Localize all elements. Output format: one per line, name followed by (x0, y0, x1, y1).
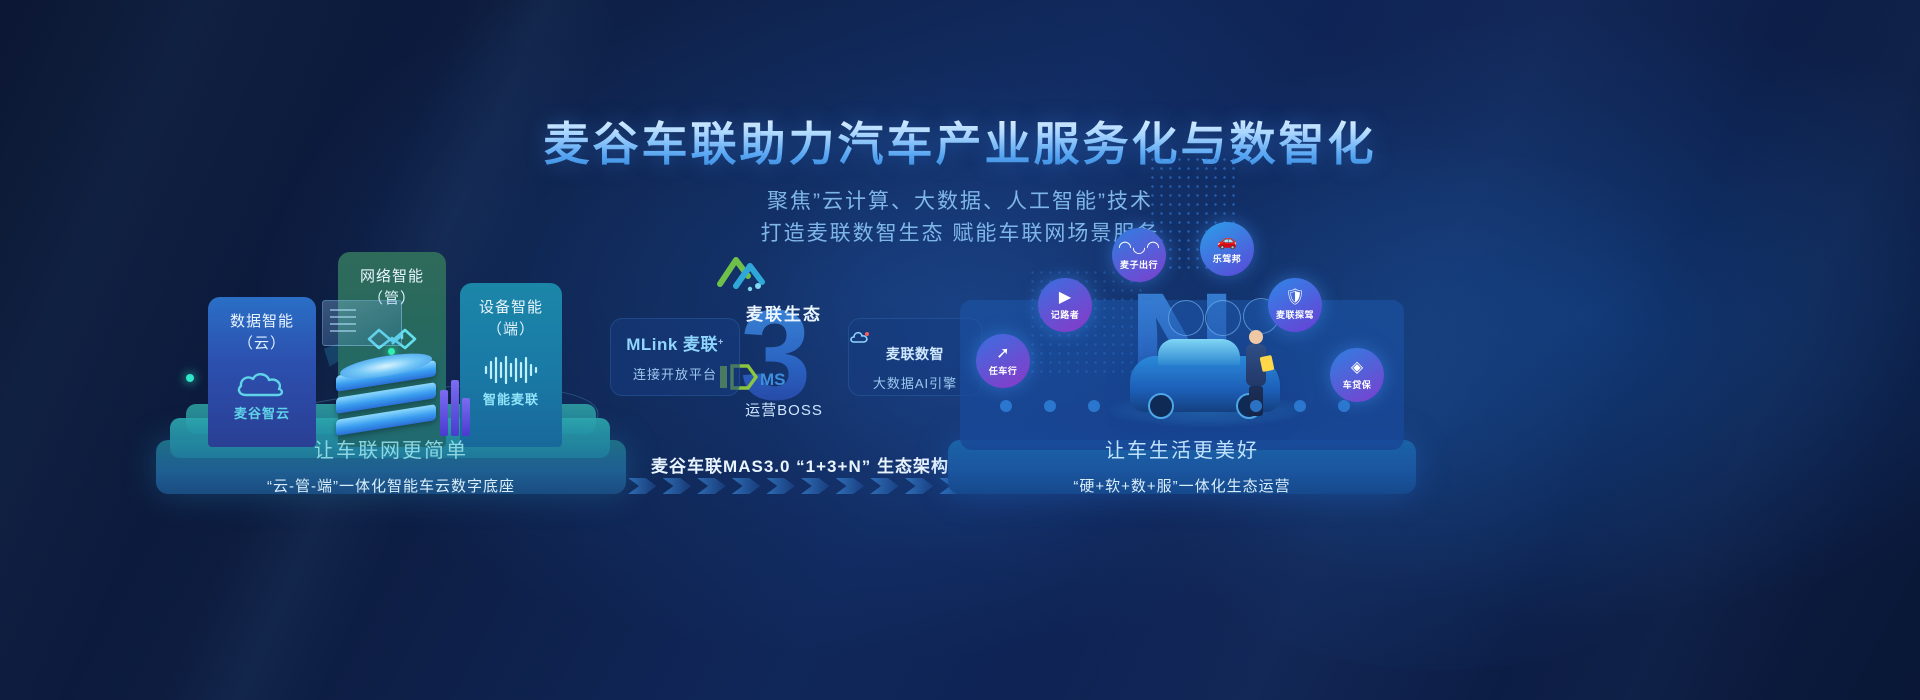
card-brand: MLink 麦联+ (611, 330, 739, 355)
waveform-icon (460, 353, 562, 387)
pillar-title: 网络智能 (338, 266, 446, 287)
pillar-title: 数据智能 (208, 311, 316, 332)
left-panel-caption: “云-管-端”一体化智能车云数字底座 (156, 475, 626, 496)
bar-chart-decor (440, 378, 474, 436)
badge-renchexing[interactable]: ➚ 任车行 (976, 334, 1030, 388)
badge-jiluzhe[interactable]: ▶ 记路者 (1038, 278, 1092, 332)
banner-stage: 麦谷车联助力汽车产业服务化与数智化 聚焦”云计算、大数据、人工智能”技术 打造麦… (0, 0, 1920, 700)
chevron-arrows (628, 478, 968, 496)
light-band (1387, 0, 1920, 700)
screen-icon (322, 300, 402, 346)
pillar-subtitle: （云） (208, 332, 316, 353)
dots-row (1000, 400, 1380, 414)
badge-lejiabang[interactable]: 🚗 乐驾邦 (1200, 222, 1254, 276)
dashcam-icon: ▶ (1059, 290, 1071, 306)
right-panel-slogan: 让车生活更美好 (948, 434, 1416, 463)
badge-maizi-chuxing[interactable]: ◠◡◠ 麦子出行 (1112, 228, 1166, 282)
pillar-title: 设备智能 (460, 297, 562, 318)
smile-arc-icon: ◠◡◠ (1118, 240, 1160, 256)
badge-mailian-tanjia[interactable]: 🛡 麦联探驾 (1268, 278, 1322, 332)
pillar-brand: 麦谷智云 (208, 403, 316, 422)
left-panel-slogan: 让车联网更简单 (156, 434, 626, 463)
subtitle-line-2: 打造麦联数智生态 赋能车联网场景服务 (0, 217, 1920, 247)
car-front-icon: 🚗 (1217, 234, 1237, 250)
badge-label: 乐驾邦 (1213, 252, 1242, 265)
pillar-brand: 智能麦联 (460, 389, 562, 408)
svg-text:MS: MS (760, 370, 786, 389)
badge-label: 任车行 (989, 364, 1018, 377)
ring-icon (1205, 300, 1241, 336)
badge-label: 麦联探驾 (1276, 308, 1314, 321)
server-illustration (336, 352, 454, 447)
pillar-data-intelligence[interactable]: 数据智能 （云） 麦谷智云 (208, 297, 316, 447)
eco-logo-block[interactable]: 麦联生态 (714, 252, 854, 325)
shield-icon: 🛡 (1285, 290, 1305, 306)
page-title: 麦谷车联助力汽车产业服务化与数智化 (0, 108, 1920, 174)
eco-mark-icon (714, 252, 770, 294)
badge-label: 车贷保 (1343, 378, 1372, 391)
right-panel-caption: “硬+软+数+服”一体化生态运营 (948, 475, 1416, 496)
idms-caption: 运营BOSS (718, 399, 850, 420)
center-card-mlink[interactable]: MLink 麦联+ 连接开放平台 (610, 318, 740, 396)
compass-icon: ➚ (996, 346, 1009, 362)
center-caption: 麦谷车联MAS3.0 “1+3+N” 生态架构 (600, 452, 1000, 477)
pillar-subtitle: （端） (460, 318, 562, 339)
badge-label: 麦子出行 (1120, 258, 1158, 271)
pillar-device-intelligence[interactable]: 设备智能 （端） 智能麦联 (460, 283, 562, 447)
subtitle-line-1: 聚焦”云计算、大数据、人工智能”技术 (0, 185, 1920, 215)
card-caption: 连接开放平台 (611, 364, 739, 383)
cloud-ai-icon (849, 330, 871, 344)
diamond-icon: ◈ (1351, 360, 1363, 376)
cloud-icon (208, 367, 316, 401)
badge-chedaibao[interactable]: ◈ 车贷保 (1330, 348, 1384, 402)
ring-icon (1168, 300, 1204, 336)
orbit-dot (186, 374, 194, 382)
badge-label: 记路者 (1051, 308, 1080, 321)
car-roof (1158, 339, 1240, 365)
